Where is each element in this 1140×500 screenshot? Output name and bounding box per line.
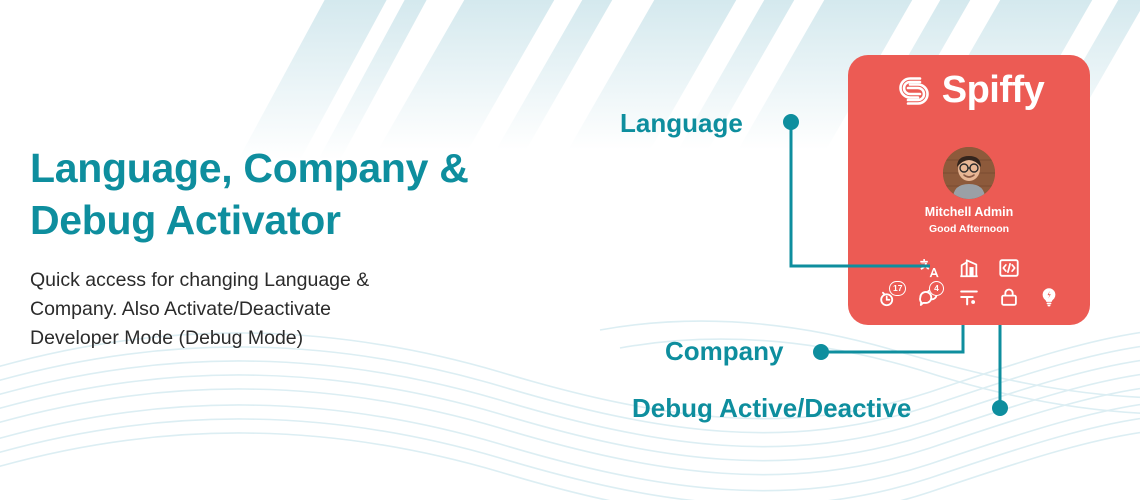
user-name: Mitchell Admin (848, 205, 1090, 219)
card-quick-actions-top (848, 257, 1090, 279)
spiffy-user-card: Spiffy Mitchell Ad (848, 55, 1090, 325)
brand-name: Spiffy (942, 69, 1045, 112)
user-greeting: Good Afternoon (848, 223, 1090, 235)
brand-logo: Spiffy (848, 69, 1090, 112)
page-description-line-2: Company. Also Activate/Deactivate (30, 295, 500, 324)
callout-label-company: Company (665, 336, 783, 367)
card-quick-actions-bottom: 17 4 (848, 286, 1090, 308)
callout-label-debug: Debug Active/Deactive (632, 393, 911, 424)
avatar[interactable] (943, 147, 995, 199)
lock-icon[interactable] (998, 286, 1020, 308)
spiffy-paperclip-logo-icon (894, 71, 934, 111)
translate-icon[interactable] (918, 257, 940, 279)
lightbulb-icon[interactable] (1038, 286, 1060, 308)
connector-dot-language (783, 114, 799, 130)
clock-icon[interactable]: 17 (878, 286, 900, 308)
chat-badge: 4 (929, 281, 944, 296)
callout-label-language: Language (620, 108, 743, 139)
page-description-line-1: Quick access for changing Language & (30, 266, 500, 295)
page-description-line-3: Developer Mode (Debug Mode) (30, 324, 500, 353)
page-title-line-1: Language, Company & (30, 145, 469, 191)
connector-dot-company (813, 344, 829, 360)
page-title: Language, Company & Debug Activator (30, 142, 550, 246)
page-title-line-2: Debug Activator (30, 194, 550, 246)
settings-sliders-icon[interactable] (958, 286, 980, 308)
code-icon[interactable] (998, 257, 1020, 279)
building-icon[interactable] (958, 257, 980, 279)
clock-badge: 17 (889, 281, 906, 296)
page-root: Language, Company & Debug Activator Quic… (0, 0, 1140, 500)
page-description: Quick access for changing Language & Com… (30, 266, 500, 353)
connector-dot-debug (992, 400, 1008, 416)
chat-bubble-icon[interactable]: 4 (918, 286, 940, 308)
